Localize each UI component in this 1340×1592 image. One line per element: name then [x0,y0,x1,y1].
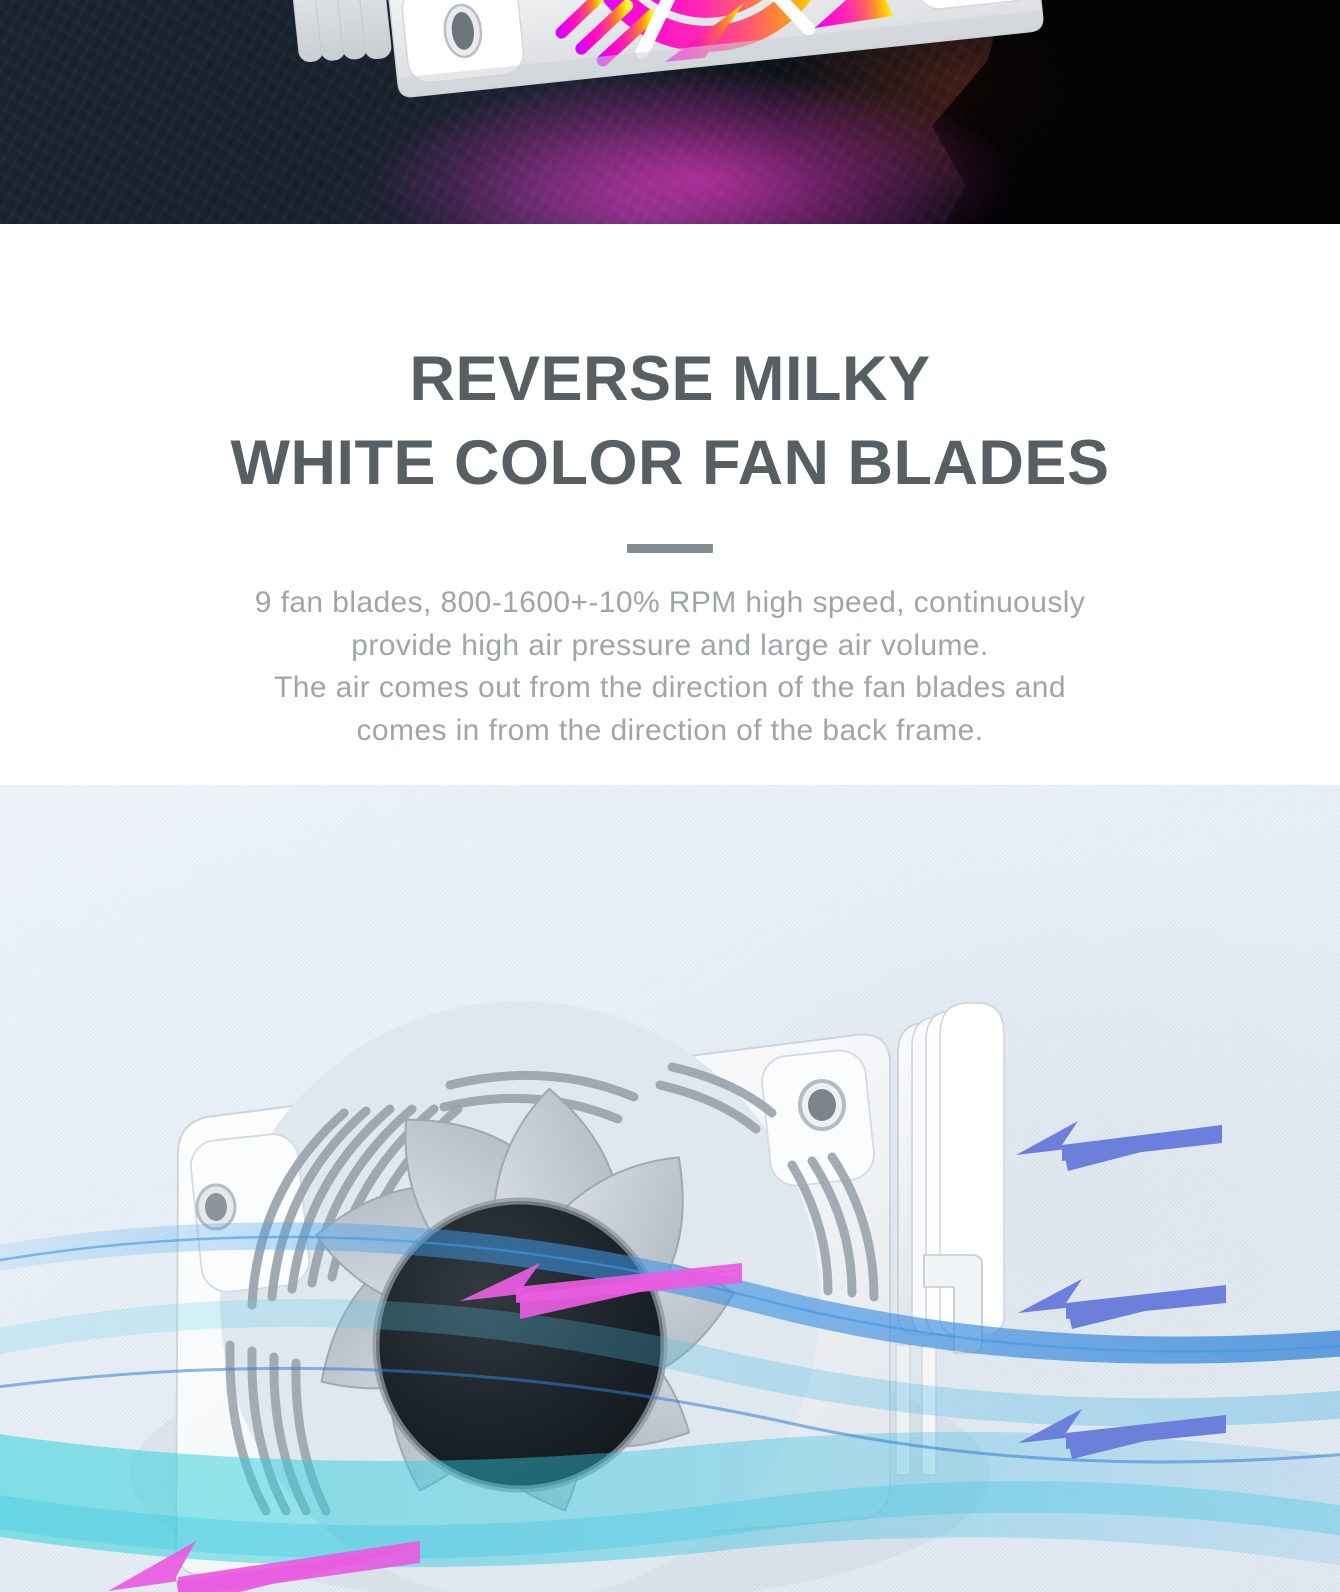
feature-text-section: REVERSE MILKY WHITE COLOR FAN BLADES 9 f… [0,224,1340,785]
product-hero-banner [0,0,1340,224]
air-inlet-arrow-2 [1018,1279,1226,1329]
section-divider [627,544,713,553]
fan-airflow-illustration [0,785,1340,1592]
product-detail-page: REVERSE MILKY WHITE COLOR FAN BLADES 9 f… [0,0,1340,1592]
page-title: REVERSE MILKY WHITE COLOR FAN BLADES [0,337,1340,505]
feature-description: 9 fan blades, 800-1600+-10% RPM high spe… [110,582,1230,752]
hero-fan-illustration [0,0,1340,224]
air-inlet-arrow-1 [1016,1121,1222,1171]
airflow-diagram-section: Air inlet [0,785,1340,1592]
